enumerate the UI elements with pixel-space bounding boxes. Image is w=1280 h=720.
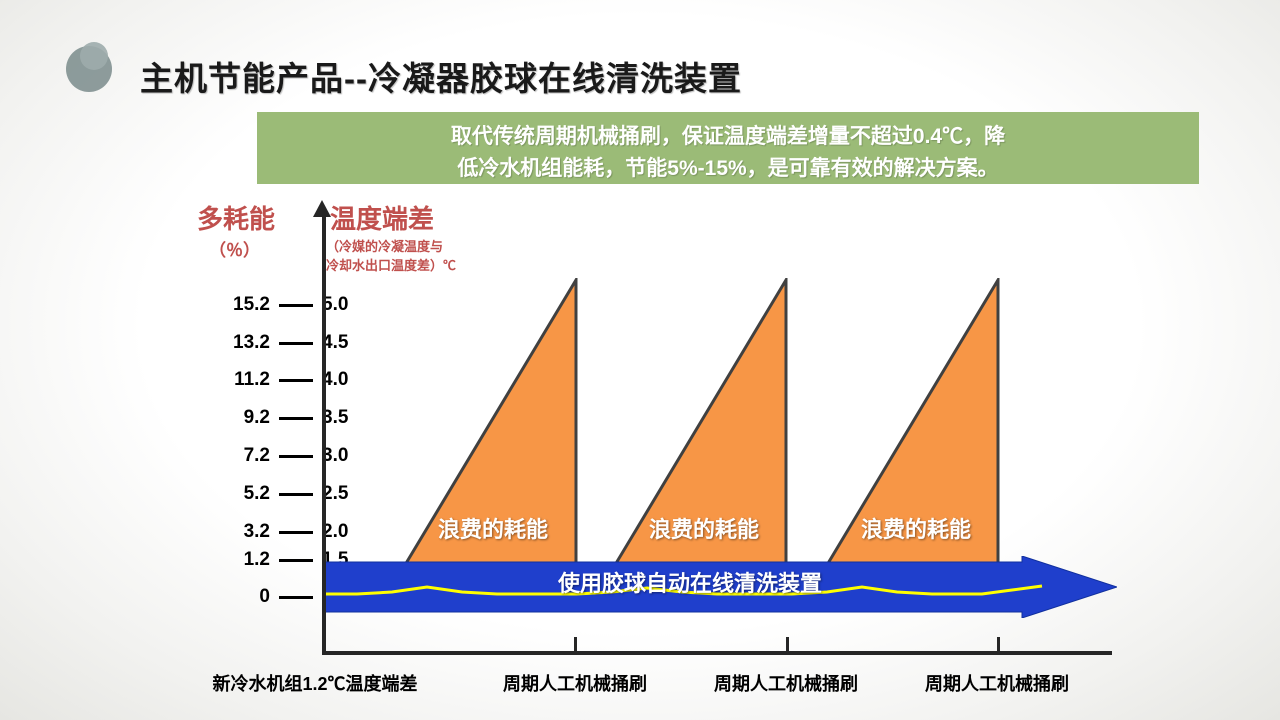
tick-right-value: 5.0 [322,294,368,316]
tick-dash-icon [279,531,313,534]
tick-left-value: 1.2 [214,549,270,571]
tick-row: 9.2 3.5 [214,407,394,429]
tick-left-value: 13.2 [214,332,270,354]
tick-dash-icon [279,379,313,382]
tick-left-value: 3.2 [214,521,270,543]
tick-row: 13.2 4.5 [214,332,394,354]
x-axis-line [322,651,1112,655]
banner-line-2: 低冷水机组能耗，节能5%-15%，是可靠有效的解决方案。 [277,153,1179,185]
tick-left-value: 9.2 [214,407,270,429]
tick-dash-icon [279,596,313,599]
tick-left-value: 15.2 [214,294,270,316]
cleaning-device-label: 使用胶球自动在线清洗装置 [430,566,950,598]
y-axis-left-title: 多耗能 [197,199,275,236]
tick-right-value: 3.0 [322,445,368,467]
tick-right-value: 4.5 [322,332,368,354]
x-axis-label-4: 周期人工机械捅刷 [912,670,1082,696]
tick-right-value: 2.5 [322,483,368,505]
tick-row: 3.2 2.0 [214,521,394,543]
x-axis-tick [786,637,789,655]
tick-dash-icon [279,417,313,420]
tick-left-value: 5.2 [214,483,270,505]
x-axis-label-3: 周期人工机械捅刷 [701,670,871,696]
tick-row: 5.2 2.5 [214,483,394,505]
y-axis-right-subtitle-line-1: （冷媒的冷凝温度与 [326,237,456,256]
y-axis-right-subtitle-line-2: 冷却水出口温度差）℃ [326,256,456,275]
tick-left-value: 11.2 [214,369,270,391]
tick-left-value: 7.2 [214,445,270,467]
y-axis-right-title: 温度端差 [330,199,434,236]
banner-line-1: 取代传统周期机械捅刷，保证温度端差增量不超过0.4℃，降 [277,121,1179,153]
tick-dash-icon [279,304,313,307]
waste-energy-label-2: 浪费的耗能 [604,512,804,544]
tick-row: 7.2 3.0 [214,445,394,467]
tick-right-value: 3.5 [322,407,368,429]
tick-row: 15.2 5.0 [214,294,394,316]
x-axis-tick [574,637,577,655]
waste-energy-label-1: 浪费的耗能 [393,512,593,544]
waste-energy-label-3: 浪费的耗能 [816,512,1016,544]
slide-canvas: 主机节能产品--冷凝器胶球在线清洗装置 取代传统周期机械捅刷，保证温度端差增量不… [0,0,1280,720]
tick-row: 11.2 4.0 [214,369,394,391]
y-axis-left-unit: （％） [209,236,260,261]
tick-dash-icon [279,493,313,496]
y-axis-right-subtitle: （冷媒的冷凝温度与 冷却水出口温度差）℃ [326,237,456,275]
tick-left-value: 0 [214,586,270,608]
x-axis-tick [997,637,1000,655]
title-bullet-icon [66,46,112,92]
page-title: 主机节能产品--冷凝器胶球在线清洗装置 [140,52,742,100]
x-axis-label-2: 周期人工机械捅刷 [490,670,660,696]
tick-dash-icon [279,559,313,562]
tick-right-value: 4.0 [322,369,368,391]
tick-dash-icon [279,455,313,458]
x-axis-label-1: 新冷水机组1.2℃温度端差 [185,670,445,696]
tick-dash-icon [279,342,313,345]
summary-banner: 取代传统周期机械捅刷，保证温度端差增量不超过0.4℃，降 低冷水机组能耗，节能5… [257,112,1199,184]
y-axis-line [322,214,326,655]
tick-right-value: 2.0 [322,521,368,543]
